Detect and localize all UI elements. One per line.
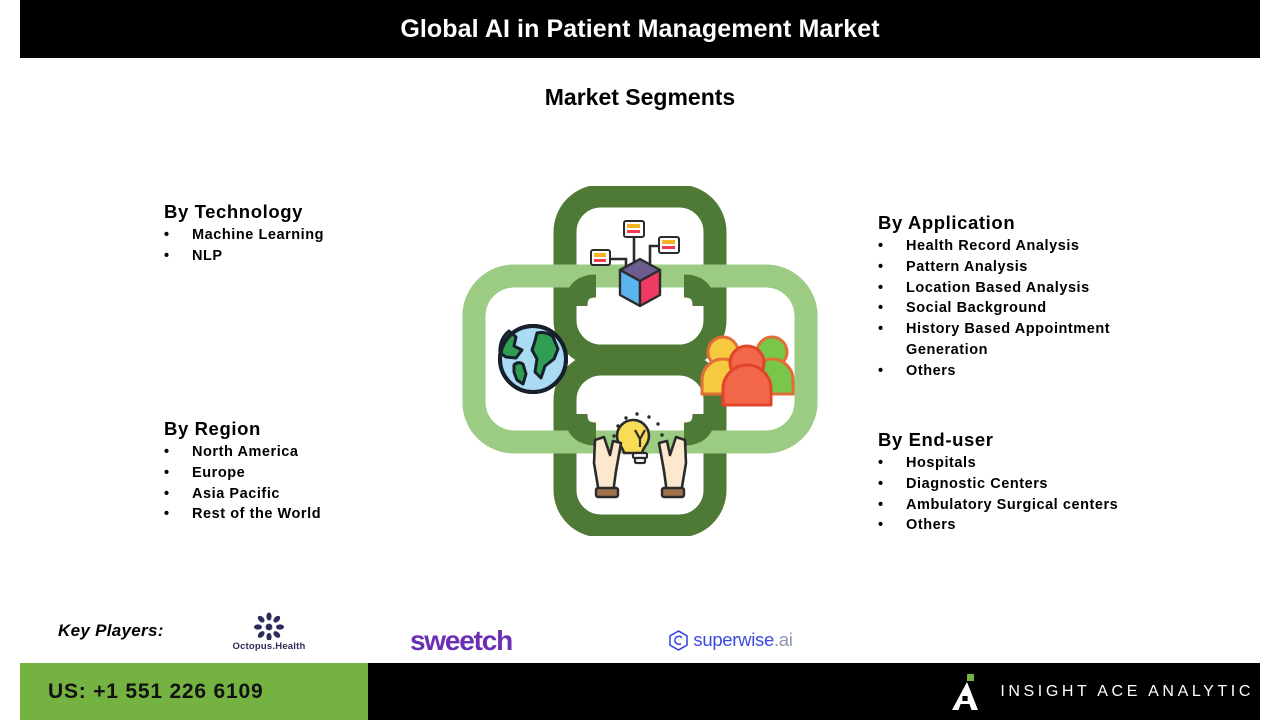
list-item-label: History Based Appointment Generation bbox=[906, 321, 1110, 358]
brand-name: INSIGHT ACE ANALYTIC bbox=[1000, 683, 1254, 701]
key-players-label: Key Players: bbox=[58, 621, 164, 641]
list-item-label: Diagnostic Centers bbox=[906, 476, 1048, 492]
bullet-icon: • bbox=[878, 278, 884, 299]
list-item: •Rest of the World bbox=[164, 504, 321, 525]
logo-sweetch: sweetch bbox=[396, 624, 526, 658]
list-item-label: Health Record Analysis bbox=[906, 238, 1080, 254]
segment-by-application: By Application •Health Record Analysis •… bbox=[878, 212, 1168, 382]
list-item: •Social Background bbox=[878, 298, 1168, 319]
bullet-icon: • bbox=[878, 515, 884, 536]
segment-by-region: By Region •North America •Europe •Asia P… bbox=[164, 418, 321, 525]
list-item: •Diagnostic Centers bbox=[878, 474, 1178, 495]
list-item-label: Machine Learning bbox=[192, 227, 324, 243]
segment-by-end-user: By End-user •Hospitals •Diagnostic Cente… bbox=[878, 429, 1178, 536]
list-item-label: Rest of the World bbox=[192, 506, 321, 522]
octopus-starburst-icon bbox=[249, 612, 289, 640]
list-item: •Hospitals bbox=[878, 453, 1178, 474]
list-item: •Asia Pacific bbox=[164, 484, 321, 505]
list-item: •Machine Learning bbox=[164, 225, 324, 246]
list-item: •NLP bbox=[164, 246, 324, 267]
list-item-label: Pattern Analysis bbox=[906, 259, 1028, 275]
people-group-icon bbox=[702, 337, 793, 405]
list-item-label: Others bbox=[906, 363, 956, 379]
list-item-label: Asia Pacific bbox=[192, 486, 280, 502]
logo-name: superwise bbox=[693, 628, 774, 652]
header-bar: Global AI in Patient Management Market bbox=[20, 0, 1260, 58]
segment-list: •Hospitals •Diagnostic Centers •Ambulato… bbox=[878, 453, 1178, 536]
list-item-label: North America bbox=[192, 444, 299, 460]
bullet-icon: • bbox=[164, 504, 170, 525]
logo-suffix: .ai bbox=[774, 628, 793, 652]
bullet-icon: • bbox=[164, 442, 170, 463]
logo-octopus-health: Octopus.Health bbox=[216, 612, 322, 652]
segment-title: By Application bbox=[878, 212, 1168, 234]
list-item: •History Based Appointment Generation bbox=[878, 319, 1168, 361]
bullet-icon: • bbox=[878, 361, 884, 382]
list-item-label: Location Based Analysis bbox=[906, 280, 1090, 296]
list-item: •North America bbox=[164, 442, 321, 463]
segment-title: By End-user bbox=[878, 429, 1178, 451]
bullet-icon: • bbox=[878, 319, 884, 340]
segment-title: By Technology bbox=[164, 201, 324, 223]
segment-title: By Region bbox=[164, 418, 321, 440]
subtitle: Market Segments bbox=[0, 84, 1280, 111]
list-item: •Location Based Analysis bbox=[878, 278, 1168, 299]
list-item-label: NLP bbox=[192, 248, 223, 264]
list-item-label: Social Background bbox=[906, 300, 1047, 316]
bullet-icon: • bbox=[878, 474, 884, 495]
globe-icon bbox=[500, 326, 566, 392]
page-title: Global AI in Patient Management Market bbox=[20, 0, 1260, 58]
segment-list: •North America •Europe •Asia Pacific •Re… bbox=[164, 442, 321, 525]
bullet-icon: • bbox=[164, 246, 170, 267]
logo-name: Octopus.Health bbox=[216, 641, 322, 652]
insight-ace-a-logo bbox=[952, 672, 982, 712]
list-item: •Others bbox=[878, 361, 1168, 382]
list-item: •Ambulatory Surgical centers bbox=[878, 495, 1178, 516]
list-item: •Pattern Analysis bbox=[878, 257, 1168, 278]
footer-brand: INSIGHT ACE ANALYTIC bbox=[952, 663, 1254, 720]
list-item-label: Hospitals bbox=[906, 455, 976, 471]
bullet-icon: • bbox=[878, 453, 884, 474]
bullet-icon: • bbox=[878, 495, 884, 516]
logo-superwise-ai: superwise.ai bbox=[646, 628, 816, 652]
segment-list: •Health Record Analysis •Pattern Analysi… bbox=[878, 236, 1168, 382]
interlocking-segments-graphic bbox=[462, 186, 818, 536]
list-item: •Health Record Analysis bbox=[878, 236, 1168, 257]
list-item-label: Europe bbox=[192, 465, 245, 481]
segment-list: •Machine Learning •NLP bbox=[164, 225, 324, 267]
bullet-icon: • bbox=[878, 298, 884, 319]
bullet-icon: • bbox=[878, 257, 884, 278]
segment-by-technology: By Technology •Machine Learning •NLP bbox=[164, 201, 324, 267]
superwise-hex-icon bbox=[669, 630, 688, 651]
list-item: •Others bbox=[878, 515, 1178, 536]
bullet-icon: • bbox=[164, 225, 170, 246]
list-item: •Europe bbox=[164, 463, 321, 484]
list-item-label: Ambulatory Surgical centers bbox=[906, 497, 1118, 513]
list-item-label: Others bbox=[906, 517, 956, 533]
infographic-page: Global AI in Patient Management Market M… bbox=[0, 0, 1280, 720]
bullet-icon: • bbox=[164, 463, 170, 484]
footer-phone: US: +1 551 226 6109 bbox=[48, 663, 263, 720]
bullet-icon: • bbox=[878, 236, 884, 257]
logo-name: sweetch bbox=[396, 624, 526, 658]
bullet-icon: • bbox=[164, 484, 170, 505]
